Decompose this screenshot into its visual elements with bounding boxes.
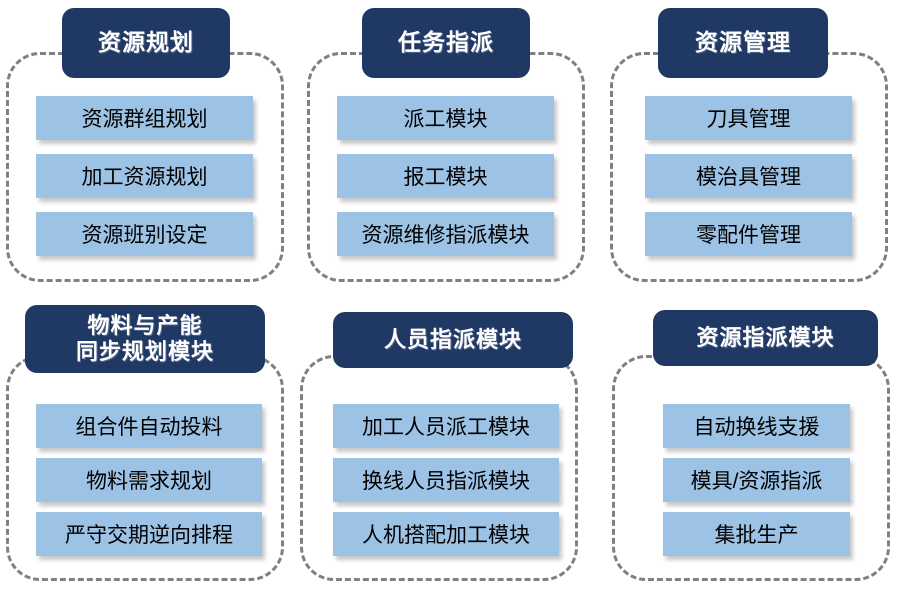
item-bar[interactable]: 人机搭配加工模块: [333, 512, 559, 556]
group-header-personnel-assignment[interactable]: 人员指派模块: [333, 312, 573, 368]
group-header-line: 人员指派模块: [384, 327, 522, 353]
group-header-line: 任务指派: [398, 29, 494, 56]
group-header-resource-assignment[interactable]: 资源指派模块: [653, 310, 878, 366]
group-header-line: 同步规划模块: [76, 339, 214, 365]
item-bar[interactable]: 模治具管理: [645, 154, 852, 198]
group-header-line: 资源指派模块: [696, 325, 834, 351]
group-header-line: 物料与产能: [87, 313, 202, 339]
group-header-line: 资源规划: [98, 29, 194, 56]
group-header-line: 资源管理: [695, 29, 791, 56]
item-bar[interactable]: 零配件管理: [645, 212, 852, 256]
group-header-task-assignment[interactable]: 任务指派: [362, 8, 530, 78]
item-bar[interactable]: 资源群组规划: [36, 96, 253, 140]
item-bar[interactable]: 刀具管理: [645, 96, 852, 140]
item-bar[interactable]: 加工资源规划: [36, 154, 253, 198]
diagram-canvas: 资源规划 资源群组规划 加工资源规划 资源班别设定 任务指派 派工模块 报工模块…: [0, 0, 900, 589]
item-bar[interactable]: 资源班别设定: [36, 212, 253, 256]
item-bar[interactable]: 集批生产: [663, 512, 850, 556]
group-header-resource-management[interactable]: 资源管理: [658, 8, 828, 78]
item-bar[interactable]: 换线人员指派模块: [333, 458, 559, 502]
item-bar[interactable]: 模具/资源指派: [663, 458, 850, 502]
group-header-material-capacity-sync-planning[interactable]: 物料与产能 同步规划模块: [25, 305, 265, 373]
item-bar[interactable]: 自动换线支援: [663, 404, 850, 448]
item-bar[interactable]: 严守交期逆向排程: [36, 512, 262, 556]
item-bar[interactable]: 派工模块: [337, 96, 554, 140]
item-bar[interactable]: 组合件自动投料: [36, 404, 262, 448]
item-bar[interactable]: 报工模块: [337, 154, 554, 198]
item-bar[interactable]: 资源维修指派模块: [337, 212, 554, 256]
item-bar[interactable]: 加工人员派工模块: [333, 404, 559, 448]
item-bar[interactable]: 物料需求规划: [36, 458, 262, 502]
group-header-resource-planning[interactable]: 资源规划: [62, 8, 230, 78]
